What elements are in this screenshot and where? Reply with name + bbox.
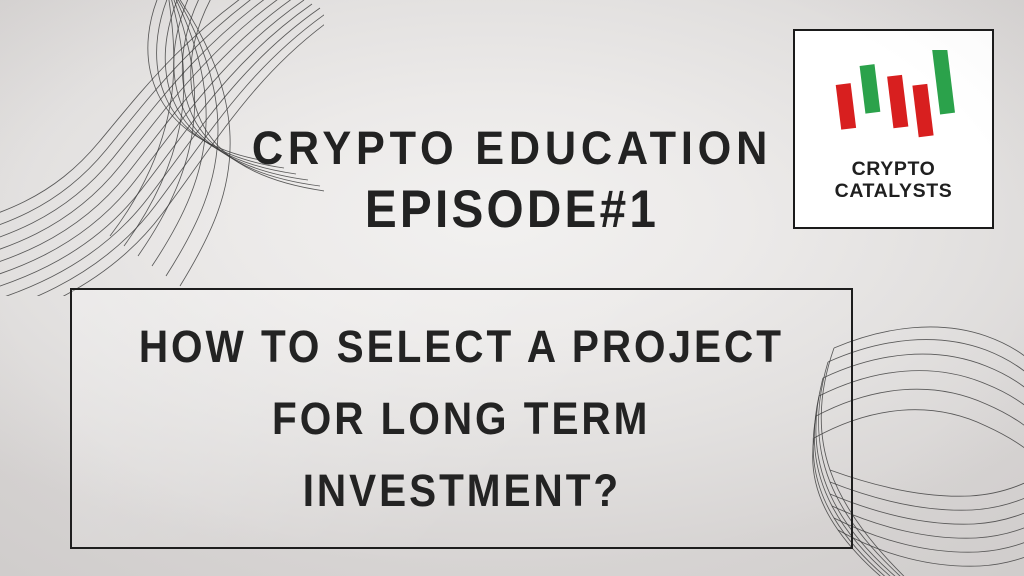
logo-wordmark: CRYPTO CATALYSTS [835, 159, 953, 203]
logo-card: CRYPTO CATALYSTS [793, 29, 994, 229]
candle-3-red [887, 75, 908, 128]
question-line-1: HOW TO SELECT A PROJECT [139, 324, 784, 369]
main-question-box: HOW TO SELECT A PROJECT FOR LONG TERM IN… [70, 288, 853, 549]
logo-word-catalysts: CATALYSTS [835, 181, 953, 203]
candlestick-chart-icon [824, 50, 964, 150]
question-line-2: FOR LONG TERM [272, 396, 650, 441]
candle-1-red [835, 83, 855, 129]
candle-4-red [912, 84, 933, 137]
logo-word-crypto: CRYPTO [835, 159, 953, 181]
question-line-3: INVESTMENT? [302, 468, 620, 513]
candle-2-green [859, 64, 880, 113]
wave-line-group-cross [830, 466, 1024, 566]
slide-canvas: CRYPTO EDUCATION EPISODE#1 HOW TO SELECT… [0, 0, 1024, 576]
candle-5-green [931, 50, 954, 114]
